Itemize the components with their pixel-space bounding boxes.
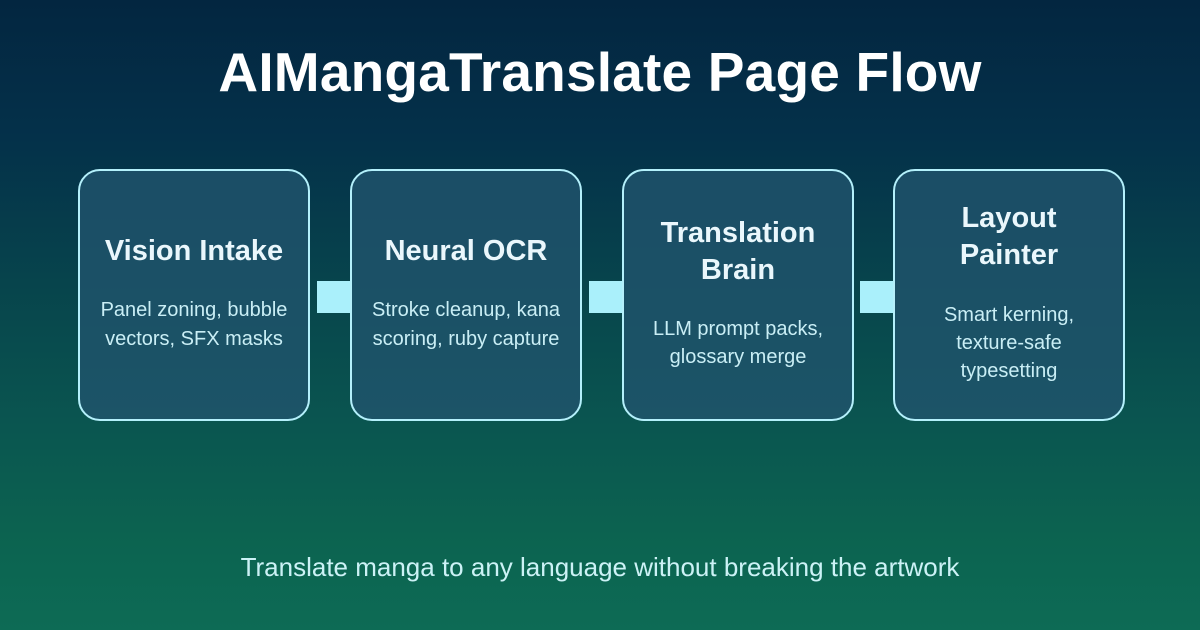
slide-canvas: AIMangaTranslate Page Flow Vision Intake… [0,0,1200,630]
flow-step-body: Stroke cleanup, kana scoring, ruby captu… [366,296,566,353]
flow-step-title: Vision Intake [105,233,283,270]
flow-connector-3 [860,281,894,313]
flow-step-card-2[interactable]: Neural OCR Stroke cleanup, kana scoring,… [350,169,582,421]
flow-step-card-1[interactable]: Vision Intake Panel zoning, bubble vecto… [78,169,310,421]
flow-connector-2 [589,281,623,313]
page-title: AIMangaTranslate Page Flow [0,44,1200,102]
flow-step-title: Neural OCR [385,233,548,270]
flow-step-card-3[interactable]: Translation Brain LLM prompt packs, glos… [622,169,854,421]
flow-step-card-4[interactable]: Layout Painter Smart kerning, texture-sa… [893,169,1125,421]
flow-step-body: LLM prompt packs, glossary merge [638,315,838,372]
footer-caption: Translate manga to any language without … [0,552,1200,583]
flow-step-body: Smart kerning, texture-safe typesetting [909,301,1109,386]
flow-step-title: Layout Painter [909,200,1109,274]
flow-step-body: Panel zoning, bubble vectors, SFX masks [94,296,294,353]
flow-connector-1 [317,281,351,313]
flow-step-title: Translation Brain [638,215,838,289]
flow-diagram: Vision Intake Panel zoning, bubble vecto… [78,169,1125,421]
